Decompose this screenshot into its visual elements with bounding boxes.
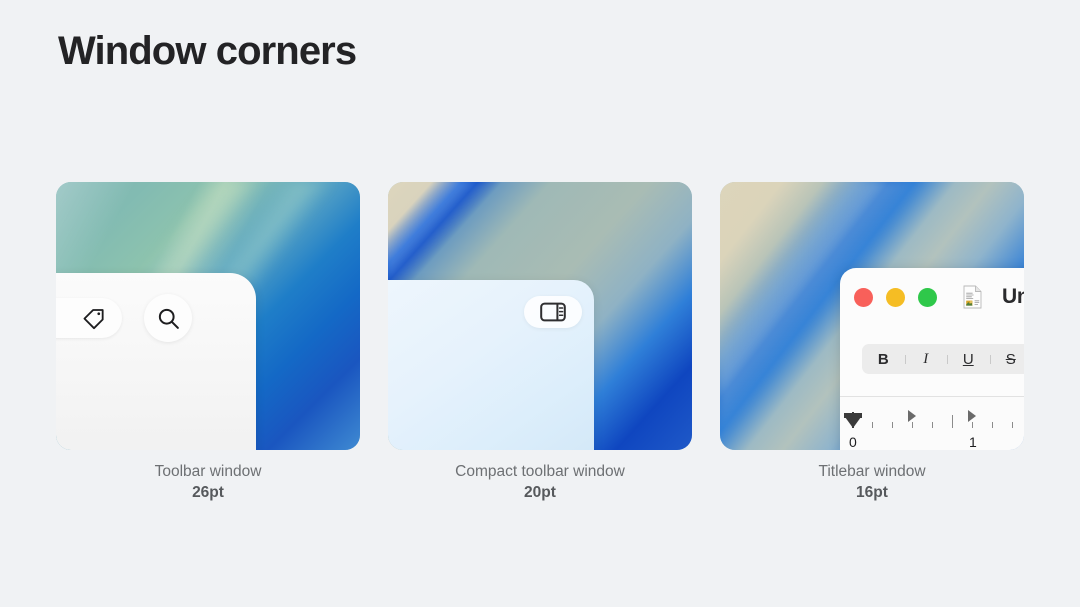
tag-icon[interactable] [81,305,107,331]
tab-stop-marker[interactable] [908,410,916,422]
inspector-button[interactable] [524,296,582,328]
ruler-label-1: 1 [969,434,977,450]
search-button[interactable] [144,294,192,342]
underline-button[interactable]: U [947,351,990,368]
ruler-label-0: 0 [849,434,857,450]
card-toolbar-window: Toolbar window 26pt [56,182,360,503]
card-preview-titlebar-window[interactable]: Un B I U S [720,182,1024,450]
zoom-button[interactable] [918,288,937,307]
window-toolbar [56,292,256,342]
caption-radius: 16pt [818,483,925,503]
caption-radius: 26pt [155,483,262,503]
strikethrough-button[interactable]: S [990,351,1025,368]
card-row: Toolbar window 26pt [56,182,1024,503]
card-caption: Toolbar window 26pt [155,462,262,503]
slide-root: Window corners [0,0,1080,607]
minimize-button[interactable] [886,288,905,307]
card-compact-toolbar-window: Compact toolbar window 20pt [388,182,692,503]
window-titlebar: Un [840,268,1024,326]
titlebar-window-mock: Un B I U S [840,268,1024,450]
format-segmented-control[interactable]: B I U S [862,344,1024,374]
card-caption: Compact toolbar window 20pt [455,462,625,503]
rtf-document-icon [963,285,982,309]
indent-stem [852,412,854,428]
italic-button[interactable]: I [905,351,948,368]
caption-label: Compact toolbar window [455,463,625,480]
tab-stop-marker[interactable] [968,410,976,422]
close-button[interactable] [854,288,873,307]
caption-radius: 20pt [455,483,625,503]
card-preview-compact-toolbar-window[interactable] [388,182,692,450]
toolbar-window-mock [56,273,256,450]
document-ruler[interactable]: 0 1 [840,396,1024,450]
inspector-panel-icon [540,302,566,322]
card-caption: Titlebar window 16pt [818,462,925,503]
window-title: Un [1002,285,1024,309]
toolbar-pill-group[interactable] [56,298,122,338]
search-icon [156,306,181,331]
card-preview-toolbar-window[interactable] [56,182,360,450]
caption-label: Toolbar window [155,463,262,480]
compact-toolbar-window-mock [388,280,594,450]
bold-button[interactable]: B [862,351,905,368]
card-titlebar-window: Un B I U S [720,182,1024,503]
caption-label: Titlebar window [818,463,925,480]
page-title: Window corners [58,27,356,75]
ruler-ticks [840,397,1024,450]
